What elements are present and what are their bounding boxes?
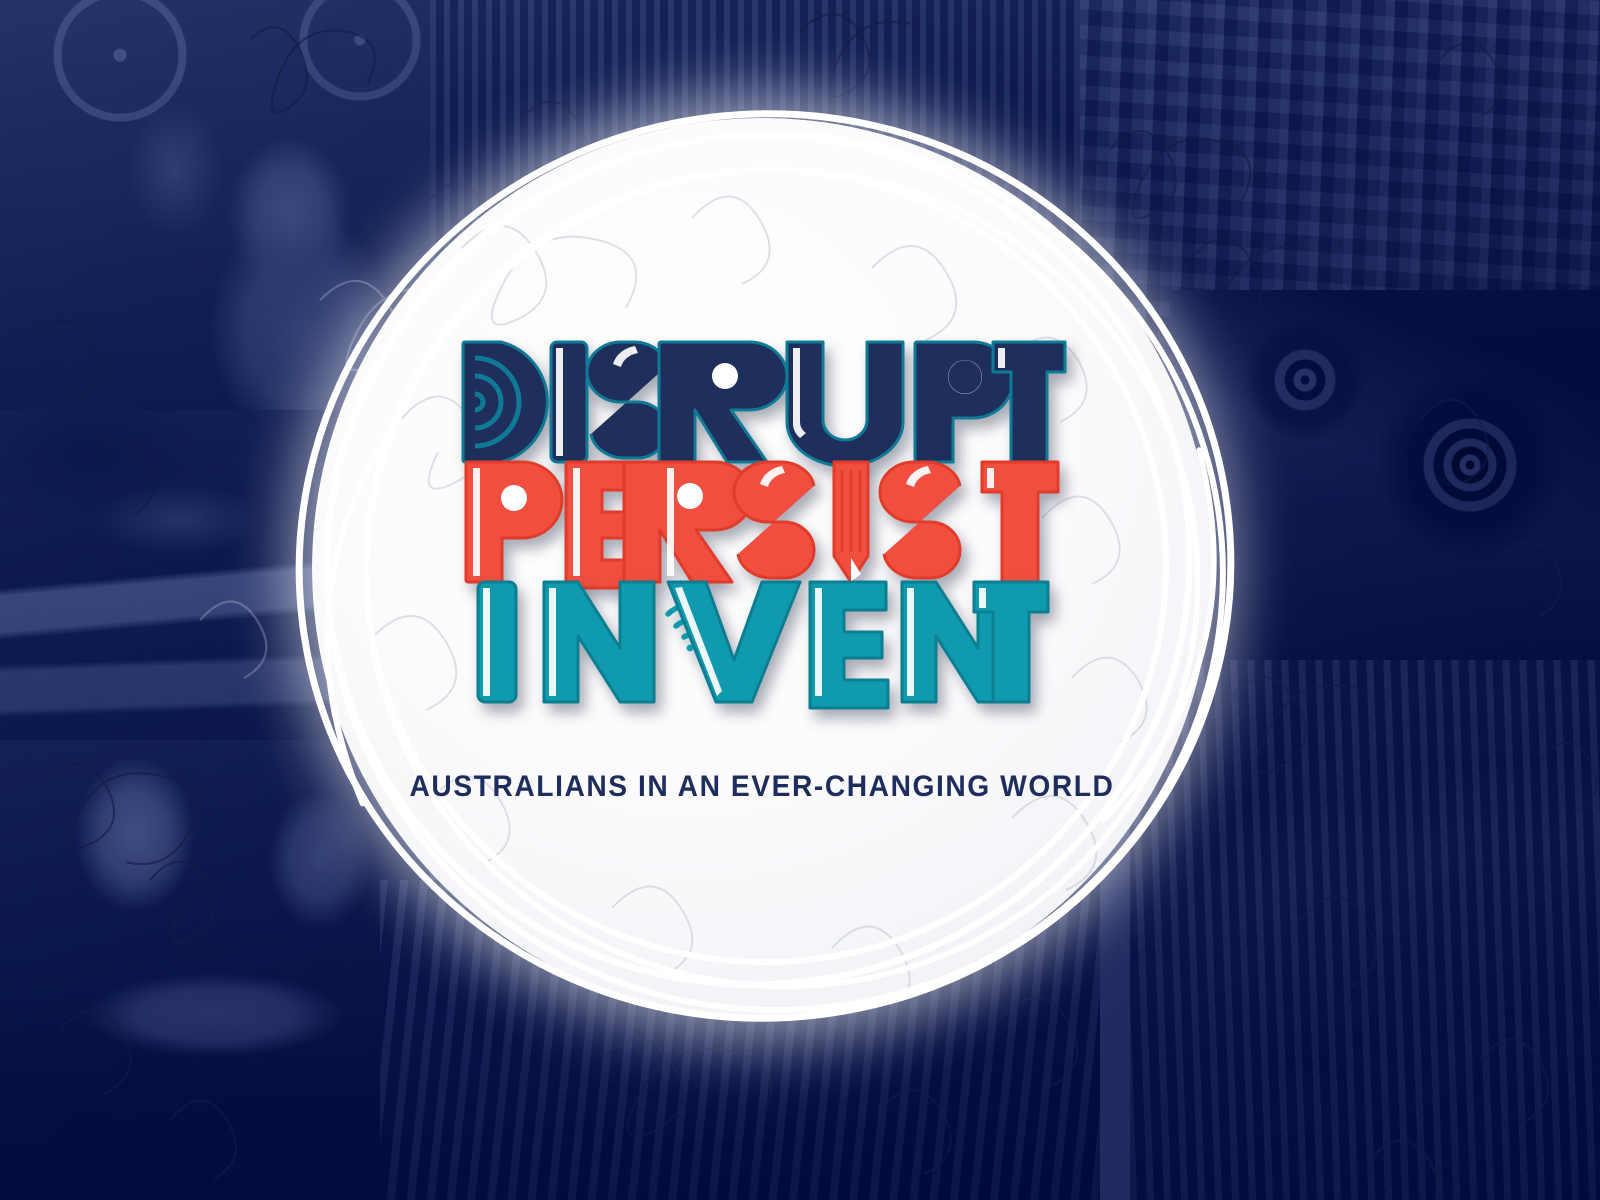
pencil-icon (834, 462, 868, 582)
letter-r (624, 462, 752, 582)
broadcast-d-icon (463, 342, 547, 462)
letter-r (659, 342, 787, 462)
letter-i (478, 582, 516, 702)
disrupt-logotype (457, 332, 1067, 472)
letter-s-2 (880, 462, 960, 578)
letter-s (734, 462, 814, 578)
letter-v (668, 582, 800, 702)
title-lockup: DISRUPT (312, 118, 1212, 1018)
poster-canvas: DISRUPT (0, 0, 1600, 1200)
poster-subtitle: AUSTRALIANS IN AN EVER-CHANGING WORLD (410, 770, 1115, 804)
letter-s (587, 342, 667, 458)
invent-logotype (472, 572, 1052, 712)
letter-t (982, 462, 1058, 582)
title-word-invent: INVENT (472, 572, 1052, 712)
letter-u (787, 342, 903, 466)
letter-p (466, 462, 562, 582)
letter-n (544, 582, 654, 702)
letter-e (810, 582, 888, 708)
title-word-disrupt: DISRUPT (457, 332, 1067, 472)
